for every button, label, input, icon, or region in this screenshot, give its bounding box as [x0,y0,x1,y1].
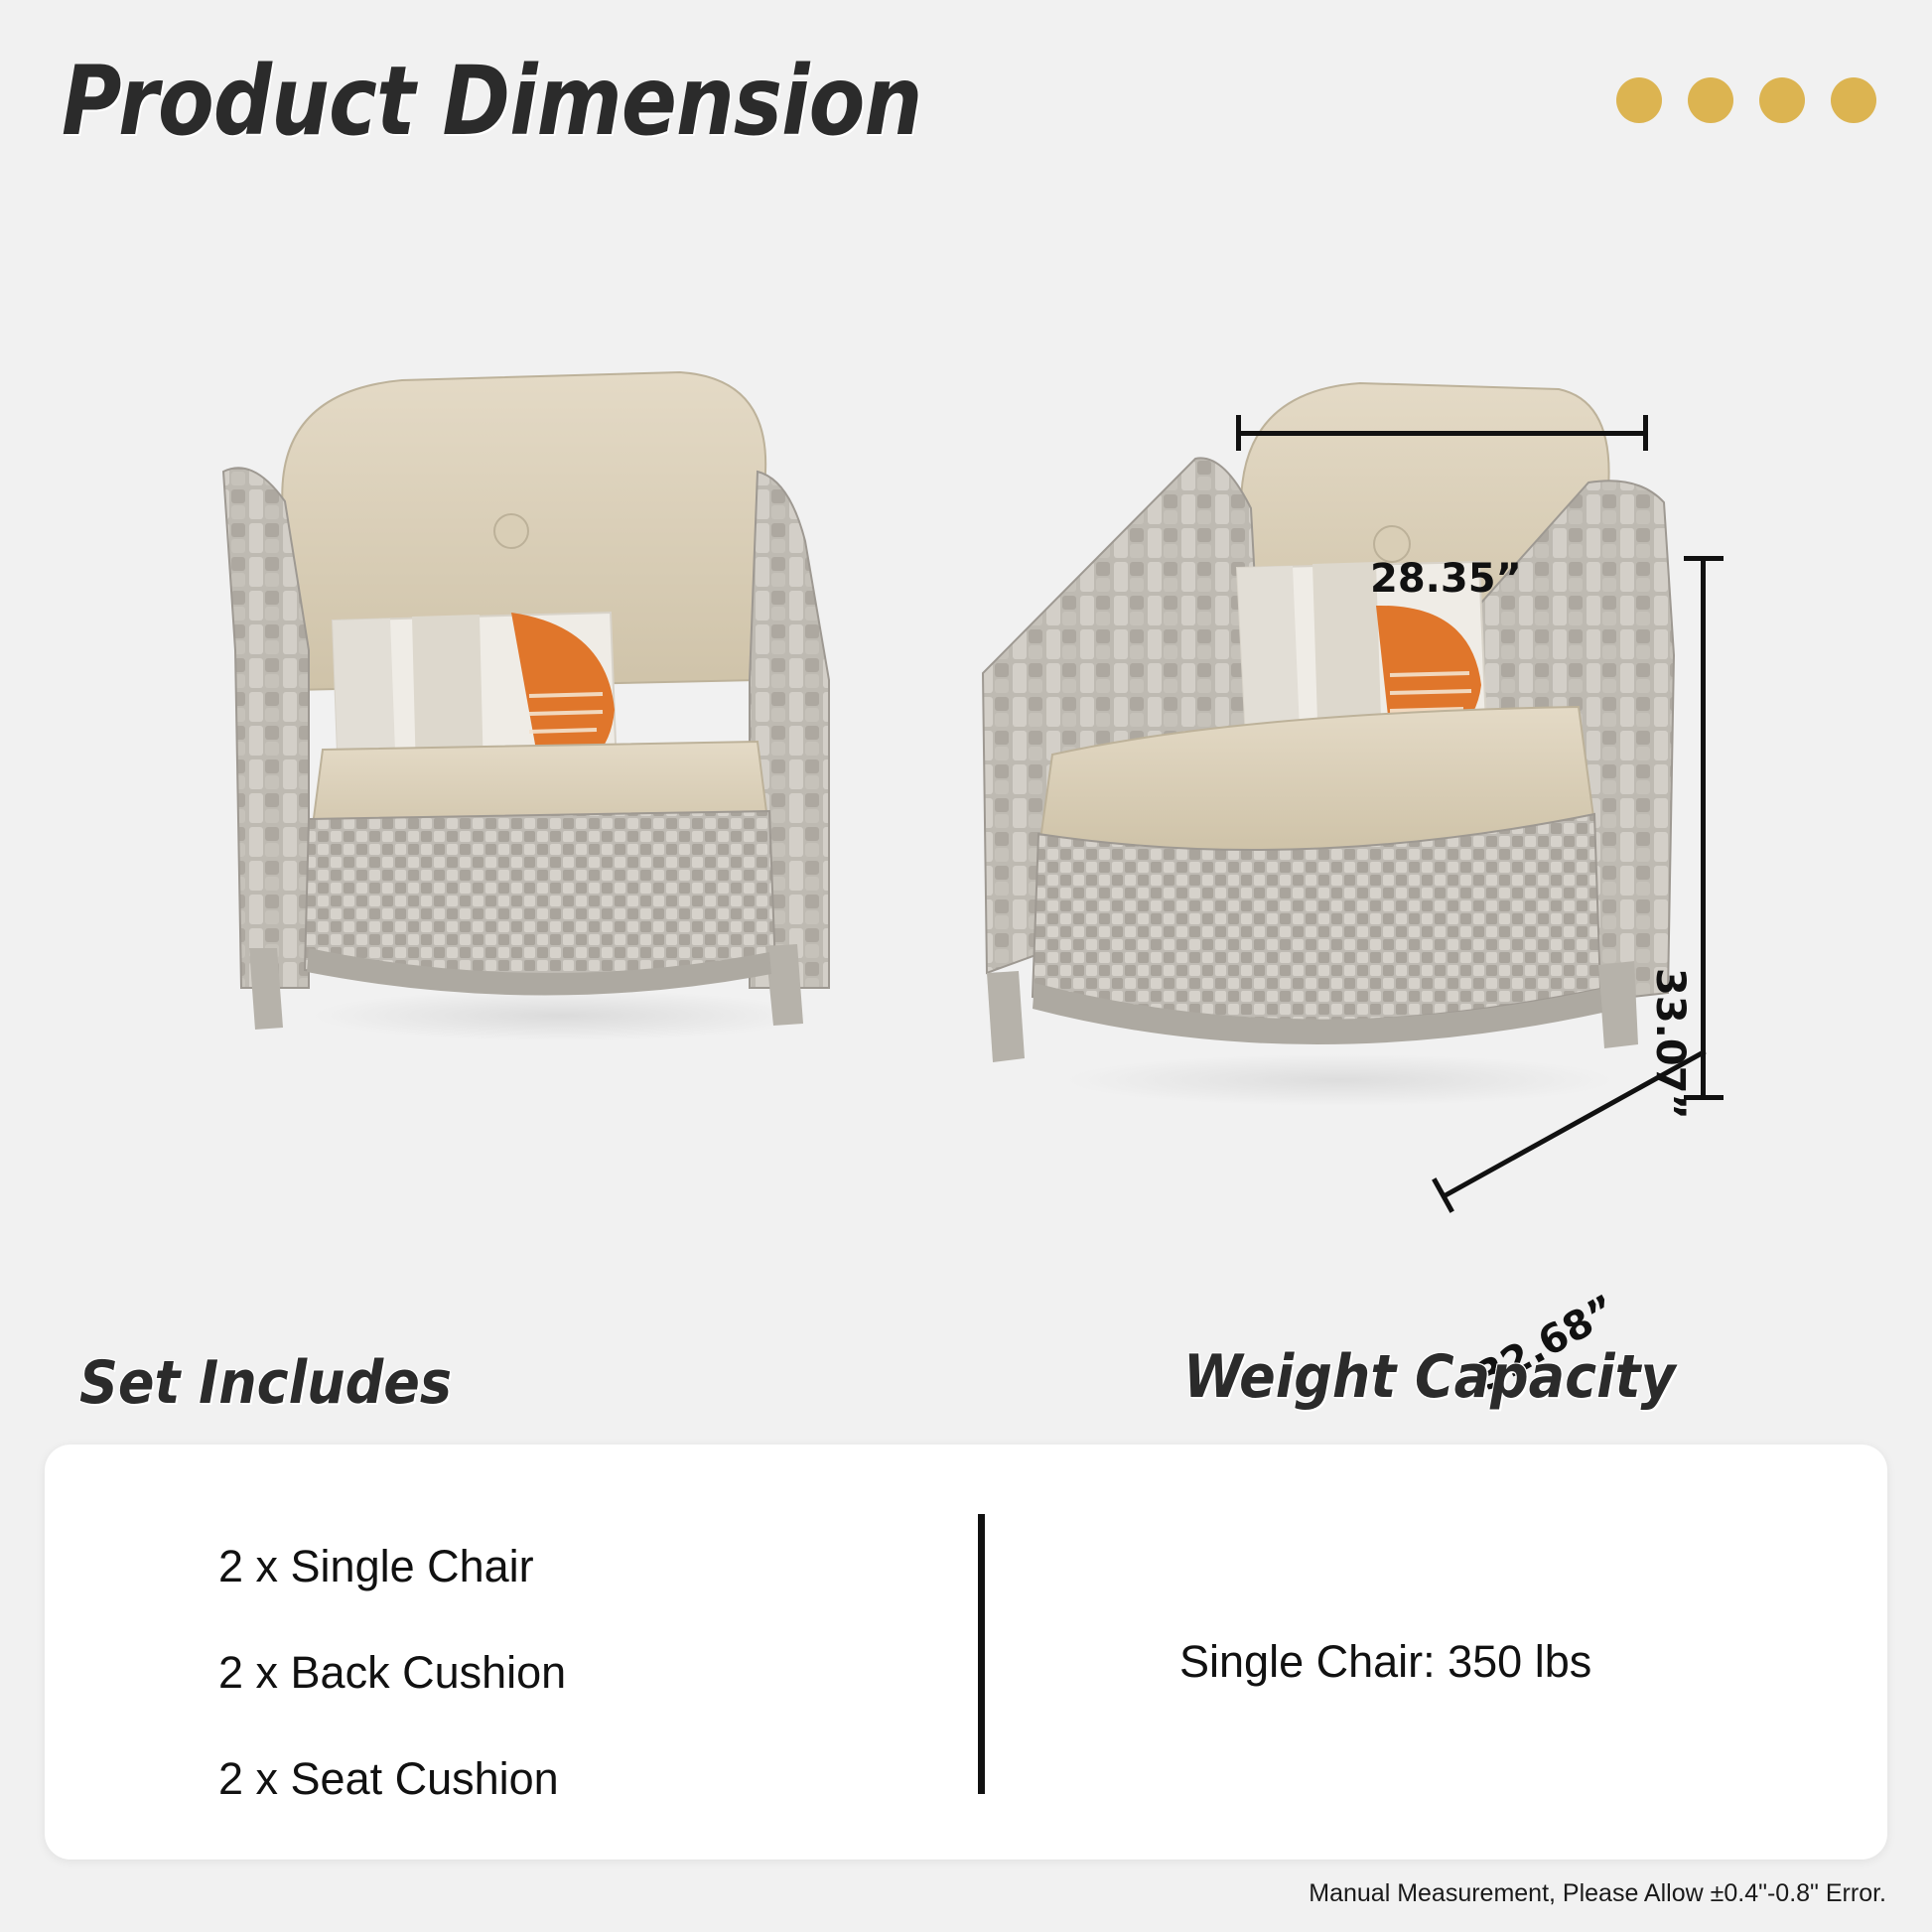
leg-front-right [1598,961,1638,1048]
list-item: 2 x Seat Cushion [218,1756,566,1801]
width-dimension-line [1236,431,1648,436]
measurement-disclaimer: Manual Measurement, Please Allow ±0.4"-0… [1309,1879,1886,1908]
leg-front-left [987,971,1025,1062]
set-includes-heading: Set Includes [79,1348,452,1418]
dot-1-icon [1616,77,1662,123]
card-divider [978,1514,985,1794]
dot-4-icon [1831,77,1876,123]
header: Product Dimension [0,0,1932,189]
info-card: 2 x Single Chair 2 x Back Cushion 2 x Se… [45,1445,1887,1860]
weight-capacity-value: Single Chair: 350 lbs [1179,1636,1591,1688]
front-apron [305,811,775,983]
leg-front-left [249,948,283,1030]
depth-cap-lower [1432,1177,1454,1213]
dot-3-icon [1759,77,1805,123]
set-includes-list: 2 x Single Chair 2 x Back Cushion 2 x Se… [218,1544,566,1801]
list-item: 2 x Back Cushion [218,1650,566,1695]
height-dimension-line [1701,556,1706,1100]
chair-shadow [313,990,809,1041]
page-title: Product Dimension [62,46,921,157]
height-cap-top [1684,556,1724,561]
decorative-dots [1616,77,1876,123]
cushion-button [494,514,528,548]
width-cap-right [1643,415,1648,451]
chair-front-view [213,352,889,1047]
list-item: 2 x Single Chair [218,1544,566,1588]
height-dimension-label: 33.07” [1647,968,1693,1120]
chair-angled-view [943,357,1698,1112]
width-dimension-label: 28.35” [1370,556,1522,602]
product-dimension-page: Product Dimension [0,0,1932,1932]
weight-capacity-heading: Weight Capacity [1183,1342,1676,1412]
dot-2-icon [1688,77,1733,123]
chair-shadow [1066,1054,1614,1106]
product-stage: 28.35” 33.07” 32.68” [0,189,1932,1320]
width-cap-left [1236,415,1241,451]
